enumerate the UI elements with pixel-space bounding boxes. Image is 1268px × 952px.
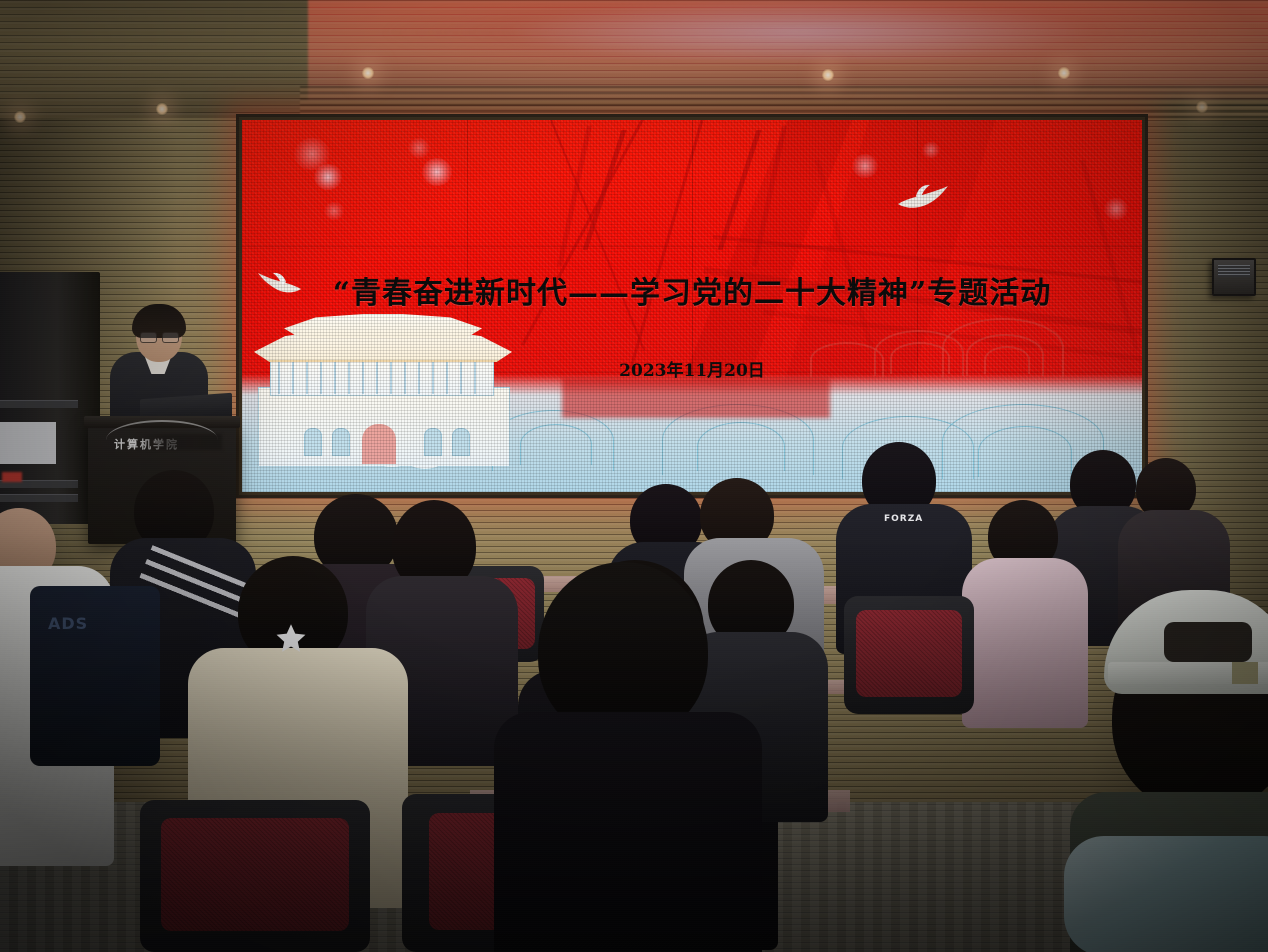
shoulder-blue — [1064, 836, 1268, 952]
chair — [140, 800, 370, 952]
torso — [962, 558, 1088, 728]
downlight-icon — [822, 68, 834, 82]
downlight-icon — [1058, 66, 1070, 80]
downlight-icon — [14, 110, 26, 124]
glasses-icon — [162, 332, 179, 343]
photo-scene: “青春奋进新时代——学习党的二十大精神”专题活动 2023年11月20日 计算机… — [0, 0, 1268, 952]
downlight-icon — [156, 102, 168, 116]
chair-mesh — [856, 610, 963, 697]
rack-status-light — [2, 472, 22, 482]
cap-buckle — [1232, 662, 1258, 684]
led-screen-surface: “青春奋进新时代——学习党的二十大精神”专题活动 2023年11月20日 — [242, 120, 1142, 492]
jacket-print: FORZA — [884, 514, 923, 524]
navy-shirt — [30, 586, 160, 766]
podium-label-occlusion — [136, 434, 222, 450]
jacket-print: ADS — [48, 614, 88, 633]
downlight-icon — [1196, 100, 1208, 114]
glasses-icon — [140, 332, 157, 343]
downlight-icon — [362, 66, 374, 80]
torso — [494, 712, 762, 952]
chair — [844, 596, 974, 714]
cap-opening — [1164, 622, 1252, 662]
rack-slot — [0, 400, 78, 408]
rack-slot — [0, 494, 78, 502]
led-pixel-grid — [242, 120, 1142, 492]
av-equipment-rack — [0, 272, 100, 524]
chair-mesh — [161, 818, 350, 930]
led-video-wall: “青春奋进新时代——学习党的二十大精神”专题活动 2023年11月20日 — [236, 114, 1148, 498]
ceiling-glow — [380, 0, 1220, 60]
rack-panel — [0, 422, 56, 464]
wall-speaker-icon — [1212, 258, 1256, 296]
star-clip-icon — [274, 622, 308, 656]
